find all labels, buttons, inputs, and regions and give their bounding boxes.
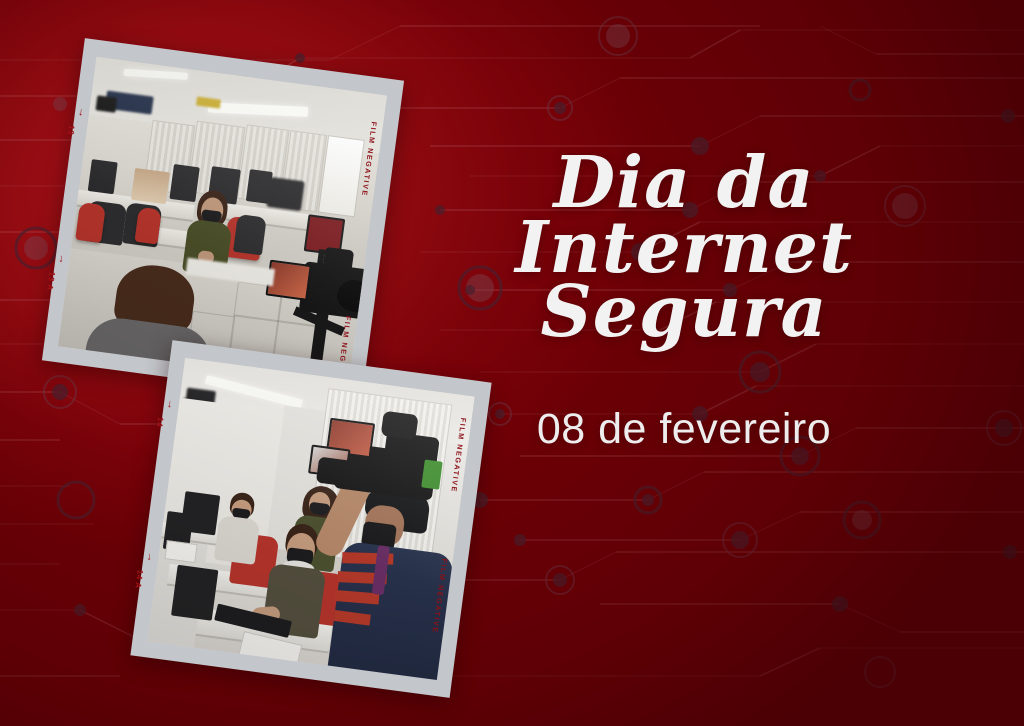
- frame-marker-14a: ↓ 14 A: [145, 553, 166, 572]
- marker-number: 14 A: [133, 569, 144, 589]
- frame-marker-14: ↓ 14: [165, 400, 177, 418]
- photo-frame-cameraman[interactable]: FILM NEGATIVE FILM NEGATIVE ↓ 14 ↓ 14 A: [130, 340, 491, 698]
- marker-arrow-icon: ↓: [58, 255, 78, 265]
- photo-interview-image: [58, 57, 387, 385]
- marker-arrow-icon: ↓: [78, 108, 89, 117]
- marker-arrow-icon: ↓: [166, 400, 177, 409]
- poster-title: Dia da Internet Segura: [404, 150, 964, 344]
- poster-canvas: FILM NEGATIVE FILM NEGATIVE ↓ 13 ↓ 13 A: [0, 0, 1024, 726]
- marker-number: 14: [155, 417, 165, 428]
- title-line-1: Dia da Internet: [404, 150, 964, 281]
- frame-marker-13a: ↓ 13 A: [57, 255, 78, 274]
- title-line-2: Segura: [404, 279, 964, 344]
- marker-number: 13: [66, 125, 76, 136]
- marker-arrow-icon: ↓: [146, 553, 166, 563]
- marker-number: 13 A: [45, 271, 56, 291]
- poster-date-subtitle: 08 de fevereiro: [404, 405, 964, 454]
